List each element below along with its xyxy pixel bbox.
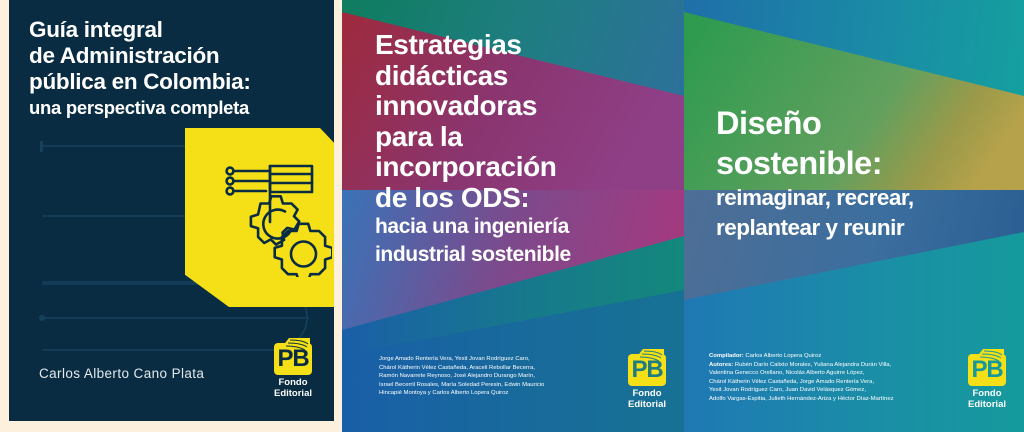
book-cover-guia-integral[interactable]: Guía integral de Administración pública … (0, 0, 342, 432)
cover1-title-line-3: pública en Colombia: (29, 69, 329, 95)
cover3-compiler-label: Compilador: (709, 353, 744, 359)
cover2-author-line-4: Israel Becerril Rosales, María Soledad P… (379, 381, 601, 390)
cover2-title-line-1: Estrategias (375, 30, 665, 61)
cover2-author-line-3: Ramón Navarrete Reynoso, José Alejandro … (379, 372, 601, 381)
cover1-author: Carlos Alberto Cano Plata (39, 366, 204, 381)
cover3-subtitle-line-1: reimaginar, recrear, (716, 183, 1016, 213)
cover3-author-line-4: Yesit Jovan Rodríguez Caro, Juan David V… (709, 386, 954, 395)
cover3-title-line-1: Diseño (716, 103, 1016, 143)
cover3-authors-row: Autores: Rubén Darío Calixto Morales, Yu… (709, 361, 954, 370)
pb-logo-caption-1: Fondo Editorial (270, 378, 316, 399)
pb-logo-mark-3: PB (968, 348, 1006, 386)
cover1-canvas: Guía integral de Administración pública … (9, 0, 334, 421)
cover2-subtitle-line-2: industrial sostenible (375, 241, 665, 269)
cover3-author-line-2: Valentina Genecco Orellano, Nicolás Albe… (709, 369, 954, 378)
cover1-title-line-1: Guía integral (29, 17, 329, 43)
cover2-title-line-3: innovadoras (375, 91, 665, 122)
cover2-subtitle-line-1: hacia una ingeniería (375, 213, 665, 241)
pb-logo-letters-1: PB (274, 343, 312, 375)
cover2-title: Estrategias didácticas innovadoras para … (375, 30, 665, 269)
cover2-author-line-2: Chárol Kátherin Vélez Castañeda, Araceli… (379, 364, 601, 373)
cover2-authors: Jorge Amado Rentería Vera, Yesit Jovan R… (379, 355, 601, 398)
cover2-title-line-2: didácticas (375, 61, 665, 92)
cover2-title-line-5: incorporación (375, 152, 665, 183)
cover2-title-line-6: de los ODS: (375, 183, 665, 214)
pb-fondo-editorial-logo-3[interactable]: PB Fondo Editorial (964, 348, 1010, 410)
cover3-compiler-name: Carlos Alberto Lopera Quiroz (745, 353, 821, 359)
cover3-credits: Compilador: Carlos Alberto Lopera Quiroz… (709, 352, 954, 404)
cover3-title: Diseño sostenible: reimaginar, recrear, … (716, 103, 1016, 243)
cover3-author-line-1: Rubén Darío Calixto Morales, Yuliana Ale… (735, 362, 891, 368)
pb-logo-mark-1: PB (274, 337, 312, 375)
pb-caption-line-1-b: Fondo (632, 388, 661, 399)
cover1-title-line-2: de Administración (29, 43, 329, 69)
cover3-compiler-row: Compilador: Carlos Alberto Lopera Quiroz (709, 352, 954, 361)
pb-logo-caption-2: Fondo Editorial (624, 389, 670, 410)
pb-caption-line-2-c: Editorial (968, 399, 1006, 410)
cover1-title-line-4: una perspectiva completa (29, 95, 329, 120)
cover2-author-line-1: Jorge Amado Rentería Vera, Yesit Jovan R… (379, 355, 601, 364)
pb-fondo-editorial-logo-1[interactable]: PB Fondo Editorial (270, 337, 316, 399)
book-cover-diseno-sostenible[interactable]: Diseño sostenible: reimaginar, recrear, … (684, 0, 1024, 432)
cover3-title-line-2: sostenible: (716, 143, 1016, 183)
cover3-authors-label: Autores: (709, 362, 733, 368)
pb-logo-caption-3: Fondo Editorial (964, 389, 1010, 410)
pb-caption-line-1: Fondo (278, 377, 307, 388)
book-cover-estrategias-didacticas[interactable]: Estrategias didácticas innovadoras para … (342, 0, 684, 432)
pb-fondo-editorial-logo-2[interactable]: PB Fondo Editorial (624, 348, 670, 410)
book-covers-strip: Guía integral de Administración pública … (0, 0, 1024, 432)
pb-logo-letters-2: PB (628, 354, 666, 386)
cover3-author-line-3: Chárol Kátherin Vélez Castañeda, Jorge A… (709, 378, 954, 387)
cover3-author-line-5: Adolfo Vargas-Espitia, Julieth Hernández… (709, 395, 954, 404)
pb-logo-letters-3: PB (968, 354, 1006, 386)
pb-caption-line-1-c: Fondo (972, 388, 1001, 399)
cover3-subtitle-line-2: replantear y reunir (716, 213, 1016, 243)
pb-caption-line-2-b: Editorial (628, 399, 666, 410)
gears-flag-settings-icon (222, 159, 332, 277)
cover2-title-line-4: para la (375, 122, 665, 153)
pb-caption-line-2: Editorial (274, 388, 312, 399)
pb-logo-mark-2: PB (628, 348, 666, 386)
cover2-author-line-5: Hincapié Montoya y Carlos Alberto Lopera… (379, 389, 601, 398)
cover1-title: Guía integral de Administración pública … (29, 17, 329, 120)
